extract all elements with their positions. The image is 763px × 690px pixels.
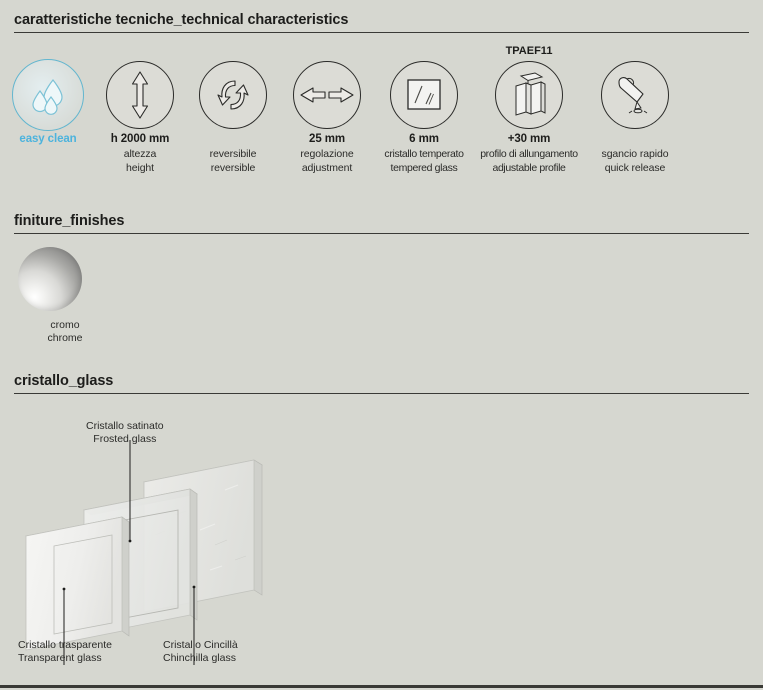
tech-desc-it-reversible: reversibile [181, 148, 285, 162]
section-header-finishes: finiture_finishes [14, 212, 749, 234]
tech-desc-en-adjustable-profile: adjustable profile [477, 162, 581, 176]
tech-code-quick-release [583, 44, 687, 58]
reversible-arrows-icon [199, 61, 267, 129]
finish-label-en-chrome: chrome [18, 332, 112, 345]
tech-icon-wrap-easy-clean [0, 58, 100, 132]
tech-item-adjustment: 25 mm regolazione adjustment [275, 44, 379, 175]
glass-callout-chinchilla-en: Chinchilla glass [163, 652, 238, 665]
glass-callout-frosted-it: Cristallo satinato [86, 420, 164, 433]
tech-desc-en-adjustment: adjustment [275, 162, 379, 176]
hand-quick-release-icon [601, 61, 669, 129]
tech-code-easy-clean [0, 44, 100, 58]
tech-desc-en-reversible: reversible [181, 162, 285, 176]
glass-callout-transparent: Cristallo trasparente Transparent glass [18, 639, 112, 665]
tech-desc-en-quick-release: quick release [583, 162, 687, 176]
tech-desc-it-adjustable-profile: profilo di allungamento [477, 148, 581, 162]
glass-callout-chinchilla-it: Cristallo Cincillà [163, 639, 238, 652]
tech-desc-it-adjustment: regolazione [275, 148, 379, 162]
glass-panel-transparent [26, 517, 129, 650]
tech-item-height: h 2000 mm altezza height [88, 44, 192, 175]
tech-desc-it-height: altezza [88, 148, 192, 162]
tempered-glass-pane-icon [390, 61, 458, 129]
technical-characteristics-row: easy clean h 2000 mm altezza height [0, 44, 763, 179]
section-title-technical: caratteristiche tecniche_technical chara… [14, 11, 749, 32]
tech-desc-en-height: height [88, 162, 192, 176]
tech-item-easy-clean: easy clean [0, 44, 100, 148]
glass-callout-frosted: Cristallo satinato Frosted glass [86, 420, 164, 446]
tech-value-adjustment: 25 mm [275, 132, 379, 148]
water-drops-icon [12, 59, 84, 131]
section-title-glass: cristallo_glass [14, 372, 749, 393]
tech-item-quick-release: sgancio rapido quick release [583, 44, 687, 175]
section-title-finishes: finiture_finishes [14, 212, 749, 233]
tech-item-reversible: reversibile reversible [181, 44, 285, 175]
tech-desc-it-tempered-glass: cristallo temperato [372, 148, 476, 162]
vertical-double-arrow-icon [106, 61, 174, 129]
tech-value-easy-clean: easy clean [0, 132, 100, 148]
tech-code-tempered-glass [372, 44, 476, 58]
tech-icon-wrap-quick-release [583, 58, 687, 132]
tech-code-height [88, 44, 192, 58]
tech-desc-it-quick-release: sgancio rapido [583, 148, 687, 162]
glass-callout-transparent-en: Transparent glass [18, 652, 112, 665]
tech-value-quick-release [583, 132, 687, 148]
chrome-sphere-swatch [18, 247, 82, 311]
glass-callout-chinchilla: Cristallo Cincillà Chinchilla glass [163, 639, 238, 665]
tech-item-tempered-glass: 6 mm cristallo temperato tempered glass [372, 44, 476, 175]
tech-desc-en-tempered-glass: tempered glass [372, 162, 476, 176]
tech-code-adjustable-profile: TPAEF11 [477, 44, 581, 58]
tech-value-adjustable-profile: +30 mm [477, 132, 581, 148]
tech-value-reversible [181, 132, 285, 148]
glass-callout-frosted-en: Frosted glass [86, 433, 164, 446]
section-divider-glass [14, 393, 749, 394]
tech-icon-wrap-adjustment [275, 58, 379, 132]
section-header-technical: caratteristiche tecniche_technical chara… [14, 11, 749, 33]
tech-value-height: h 2000 mm [88, 132, 192, 148]
finish-item-chrome: cromo chrome [12, 247, 112, 345]
adjustable-profile-icon [495, 61, 563, 129]
finish-label-it-chrome: cromo [18, 319, 112, 332]
glass-panels-illustration: Cristallo satinato Frosted glass Cristal… [0, 400, 763, 688]
tech-icon-wrap-adjustable-profile [477, 58, 581, 132]
tech-value-tempered-glass: 6 mm [372, 132, 476, 148]
tech-icon-wrap-tempered-glass [372, 58, 476, 132]
glass-callout-transparent-it: Cristallo trasparente [18, 639, 112, 652]
tech-icon-wrap-reversible [181, 58, 285, 132]
tech-item-adjustable-profile: TPAEF11 +30 mm profilo di allungamento a… [477, 44, 581, 175]
section-divider-technical [14, 32, 749, 33]
horizontal-double-arrow-icon [293, 61, 361, 129]
tech-code-reversible [181, 44, 285, 58]
section-header-glass: cristallo_glass [14, 372, 749, 394]
tech-icon-wrap-height [88, 58, 192, 132]
section-divider-finishes [14, 233, 749, 234]
tech-code-adjustment [275, 44, 379, 58]
